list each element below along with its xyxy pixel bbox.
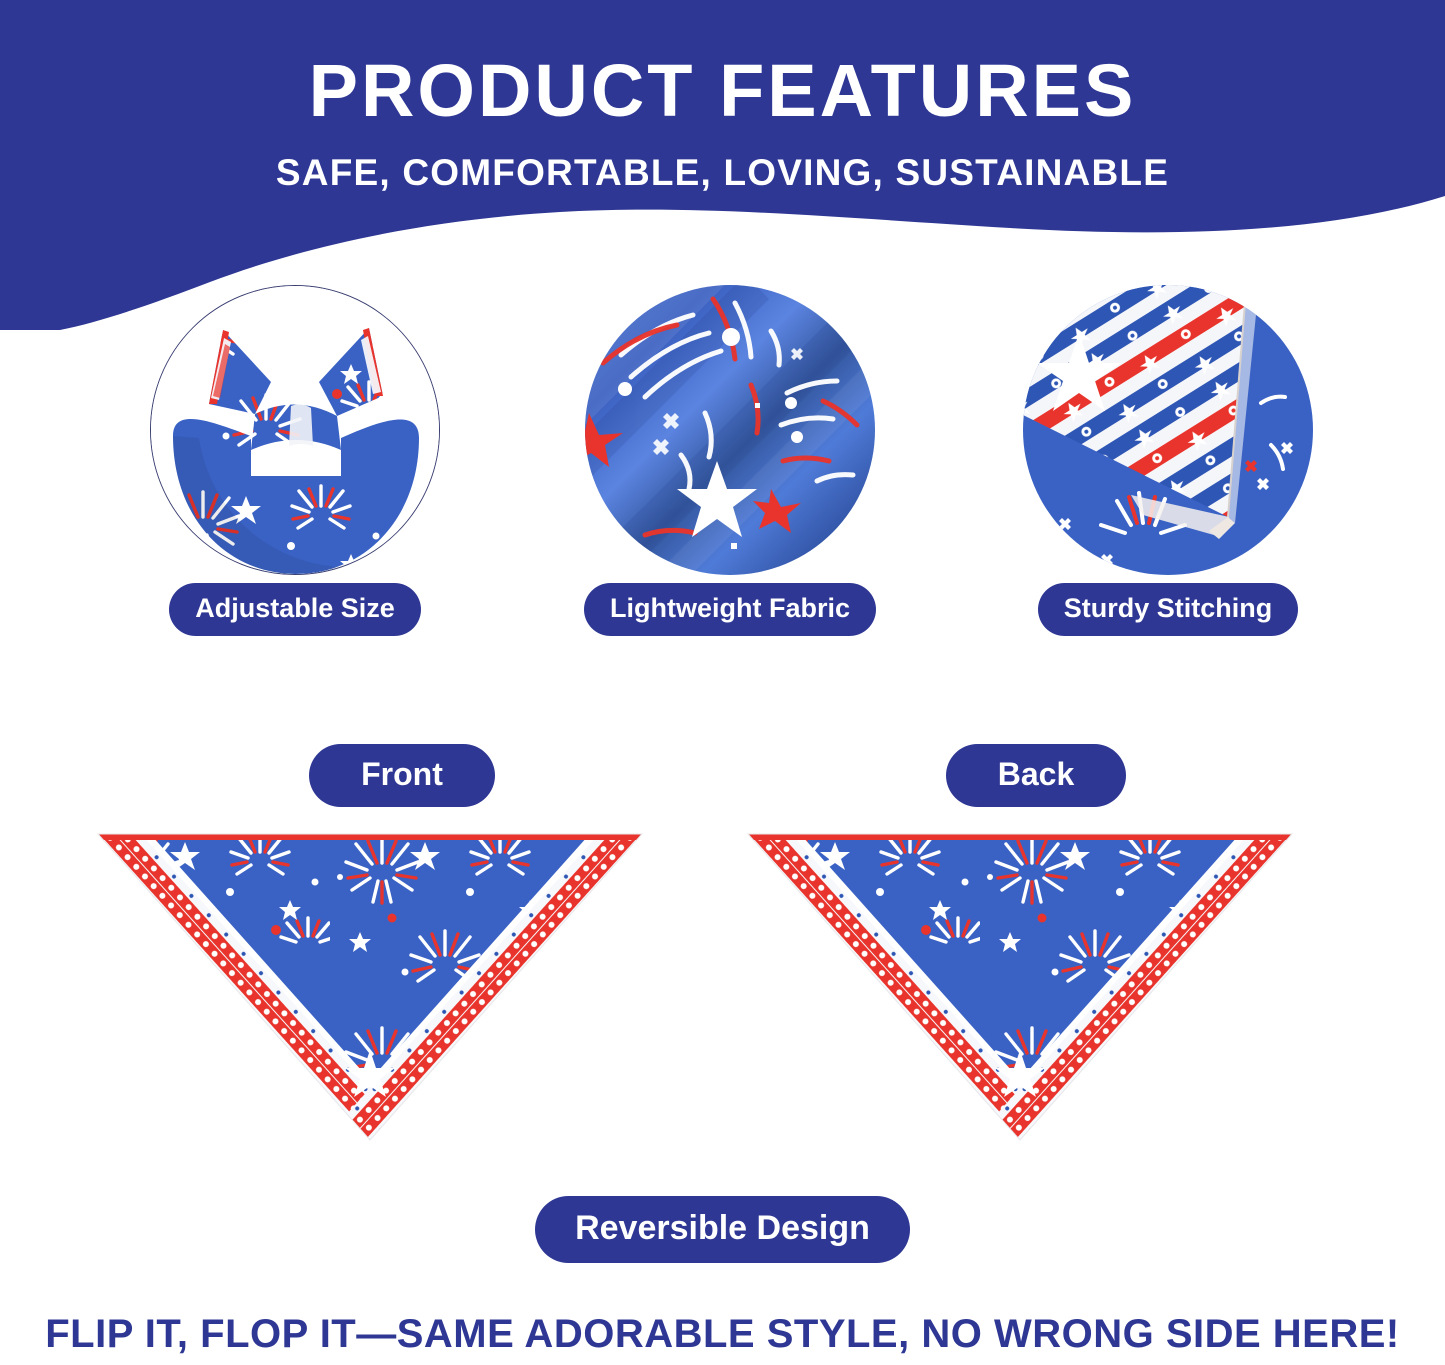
page-subtitle: SAFE, COMFORTABLE, LOVING, SUSTAINABLE bbox=[0, 152, 1445, 194]
footer-tagline: FLIP IT, FLOP IT—SAME ADORABLE STYLE, NO… bbox=[0, 1312, 1445, 1357]
feature-sturdy-stitching: Sturdy Stitching bbox=[1018, 285, 1318, 575]
feature-lightweight-fabric: Lightweight Fabric bbox=[580, 285, 880, 575]
feature-badge-lightweight-fabric: Lightweight Fabric bbox=[584, 583, 876, 636]
side-label-row-back: Back bbox=[856, 744, 1216, 807]
feature-label-row-adjustable-size: Adjustable Size bbox=[145, 583, 445, 636]
reversible-design-badge: Reversible Design bbox=[535, 1196, 910, 1263]
side-label-row-front: Front bbox=[222, 744, 582, 807]
feature-image-sturdy-stitching bbox=[1023, 285, 1313, 575]
page-title: PRODUCT FEATURES bbox=[0, 52, 1445, 130]
feature-adjustable-size: Adjustable Size bbox=[145, 285, 445, 575]
bandana-back bbox=[740, 822, 1300, 1152]
product-features-infographic: PRODUCT FEATURES SAFE, COMFORTABLE, LOVI… bbox=[0, 0, 1445, 1365]
feature-image-lightweight-fabric bbox=[585, 285, 875, 575]
feature-badge-adjustable-size: Adjustable Size bbox=[169, 583, 421, 636]
feature-badge-sturdy-stitching: Sturdy Stitching bbox=[1038, 583, 1299, 636]
feature-image-adjustable-size bbox=[150, 285, 440, 575]
feature-label-row-lightweight-fabric: Lightweight Fabric bbox=[580, 583, 880, 636]
reversible-label-row: Reversible Design bbox=[0, 1196, 1445, 1263]
side-badge-front: Front bbox=[309, 744, 495, 807]
feature-label-row-sturdy-stitching: Sturdy Stitching bbox=[1018, 583, 1318, 636]
side-badge-back: Back bbox=[946, 744, 1127, 807]
bandana-front bbox=[90, 822, 650, 1152]
